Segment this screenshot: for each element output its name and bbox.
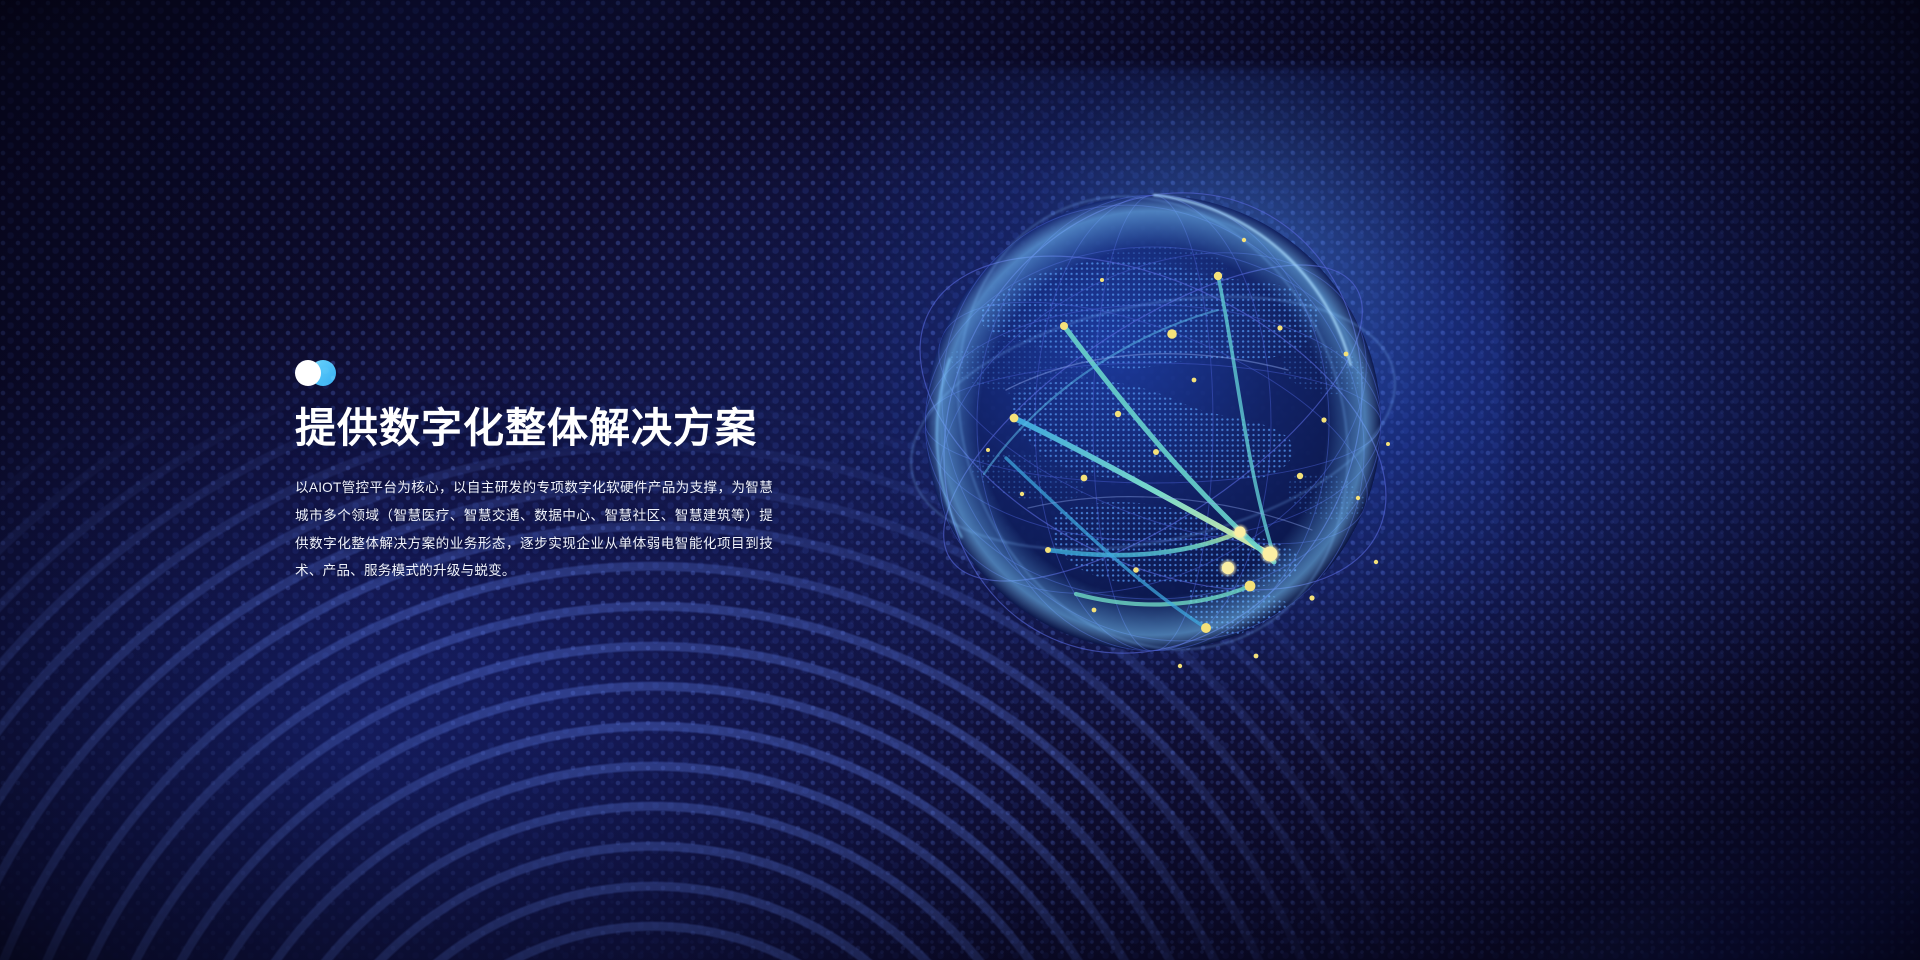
hero-content: 提供数字化整体解决方案 以AIOT管控平台为核心，以自主研发的专项数字化软硬件产…: [295, 360, 773, 585]
globe-svg: [888, 158, 1418, 688]
globe-rim-glow: [925, 195, 1381, 651]
circle-cyan-icon: [310, 360, 336, 386]
banner-root: 提供数字化整体解决方案 以AIOT管控平台为核心，以自主研发的专项数字化软硬件产…: [0, 0, 1920, 960]
globe-graphic: [888, 158, 1418, 688]
description-paragraph: 以AIOT管控平台为核心，以自主研发的专项数字化软硬件产品为支撑，为智慧城市多个…: [295, 474, 773, 585]
two-circles-icon: [295, 360, 349, 386]
page-title: 提供数字化整体解决方案: [295, 406, 773, 452]
